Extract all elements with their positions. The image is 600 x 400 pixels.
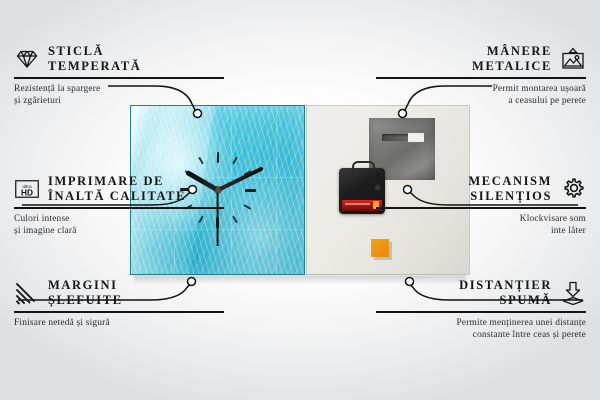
- callout-subtitle: Culori intense și imagine clară: [14, 213, 224, 237]
- diamond-icon: [14, 46, 40, 72]
- callout-header: MECANISM SILENȚIOS: [376, 174, 586, 204]
- callout-header: MÂNERE METALICE: [376, 44, 586, 74]
- callout-title: MECANISM SILENȚIOS: [468, 174, 552, 204]
- callout-polished-edges: MARGINI ȘLEFUITE Finisare netedă și sigu…: [14, 278, 224, 329]
- callout-rule: [14, 311, 224, 313]
- callout-title: IMPRIMARE DE ÎNALTĂ CALITATE: [48, 174, 186, 204]
- callout-subtitle: Klockvisare som inte låter: [376, 213, 586, 237]
- ultra-hd-icon: ultra HD: [14, 176, 40, 202]
- callout-hd-print: ultra HD IMPRIMARE DE ÎNALTĂ CALITATE Cu…: [14, 174, 224, 237]
- hanger-slot: [382, 134, 412, 141]
- svg-text:HD: HD: [21, 187, 33, 197]
- infographic-canvas: STICLĂ TEMPERATĂ Rezistență la spargere …: [0, 0, 600, 400]
- gear-icon: [560, 176, 586, 202]
- callout-rule: [376, 207, 586, 209]
- callout-subtitle: Rezistență la spargere și zgârieturi: [14, 83, 224, 107]
- callout-subtitle: Finisare netedă și sigură: [14, 317, 224, 329]
- callout-subtitle: Permite menținerea unei distanțe constan…: [376, 317, 586, 341]
- callout-title: MÂNERE METALICE: [472, 44, 552, 74]
- foam-spacer-pad: [371, 239, 389, 257]
- callout-metal-hooks: MÂNERE METALICE Permit montarea ușoară a…: [376, 44, 586, 107]
- callout-foam-spacer: DISTANȚIER SPUMĂ Permite menținerea unei…: [376, 278, 586, 341]
- callout-title: STICLĂ TEMPERATĂ: [48, 44, 141, 74]
- callout-title: MARGINI ȘLEFUITE: [48, 278, 123, 308]
- polished-edges-icon: [14, 280, 40, 306]
- callout-header: MARGINI ȘLEFUITE: [14, 278, 224, 308]
- callout-silent-mechanism: MECANISM SILENȚIOS Klockvisare som inte …: [376, 174, 586, 237]
- callout-tempered-glass: STICLĂ TEMPERATĂ Rezistență la spargere …: [14, 44, 224, 107]
- callout-title: DISTANȚIER SPUMĂ: [459, 278, 552, 308]
- foam-spacer-icon: [560, 280, 586, 306]
- mechanism-hook-loop: [352, 161, 375, 174]
- callout-rule: [14, 207, 224, 209]
- callout-rule: [376, 77, 586, 79]
- callout-header: DISTANȚIER SPUMĂ: [376, 278, 586, 308]
- picture-hanger-icon: [560, 46, 586, 72]
- callout-header: STICLĂ TEMPERATĂ: [14, 44, 224, 74]
- callout-header: ultra HD IMPRIMARE DE ÎNALTĂ CALITATE: [14, 174, 224, 204]
- callout-subtitle: Permit montarea ușoară a ceasului pe per…: [376, 83, 586, 107]
- callout-rule: [376, 311, 586, 313]
- callout-rule: [14, 77, 224, 79]
- face-grid-line: [276, 106, 277, 274]
